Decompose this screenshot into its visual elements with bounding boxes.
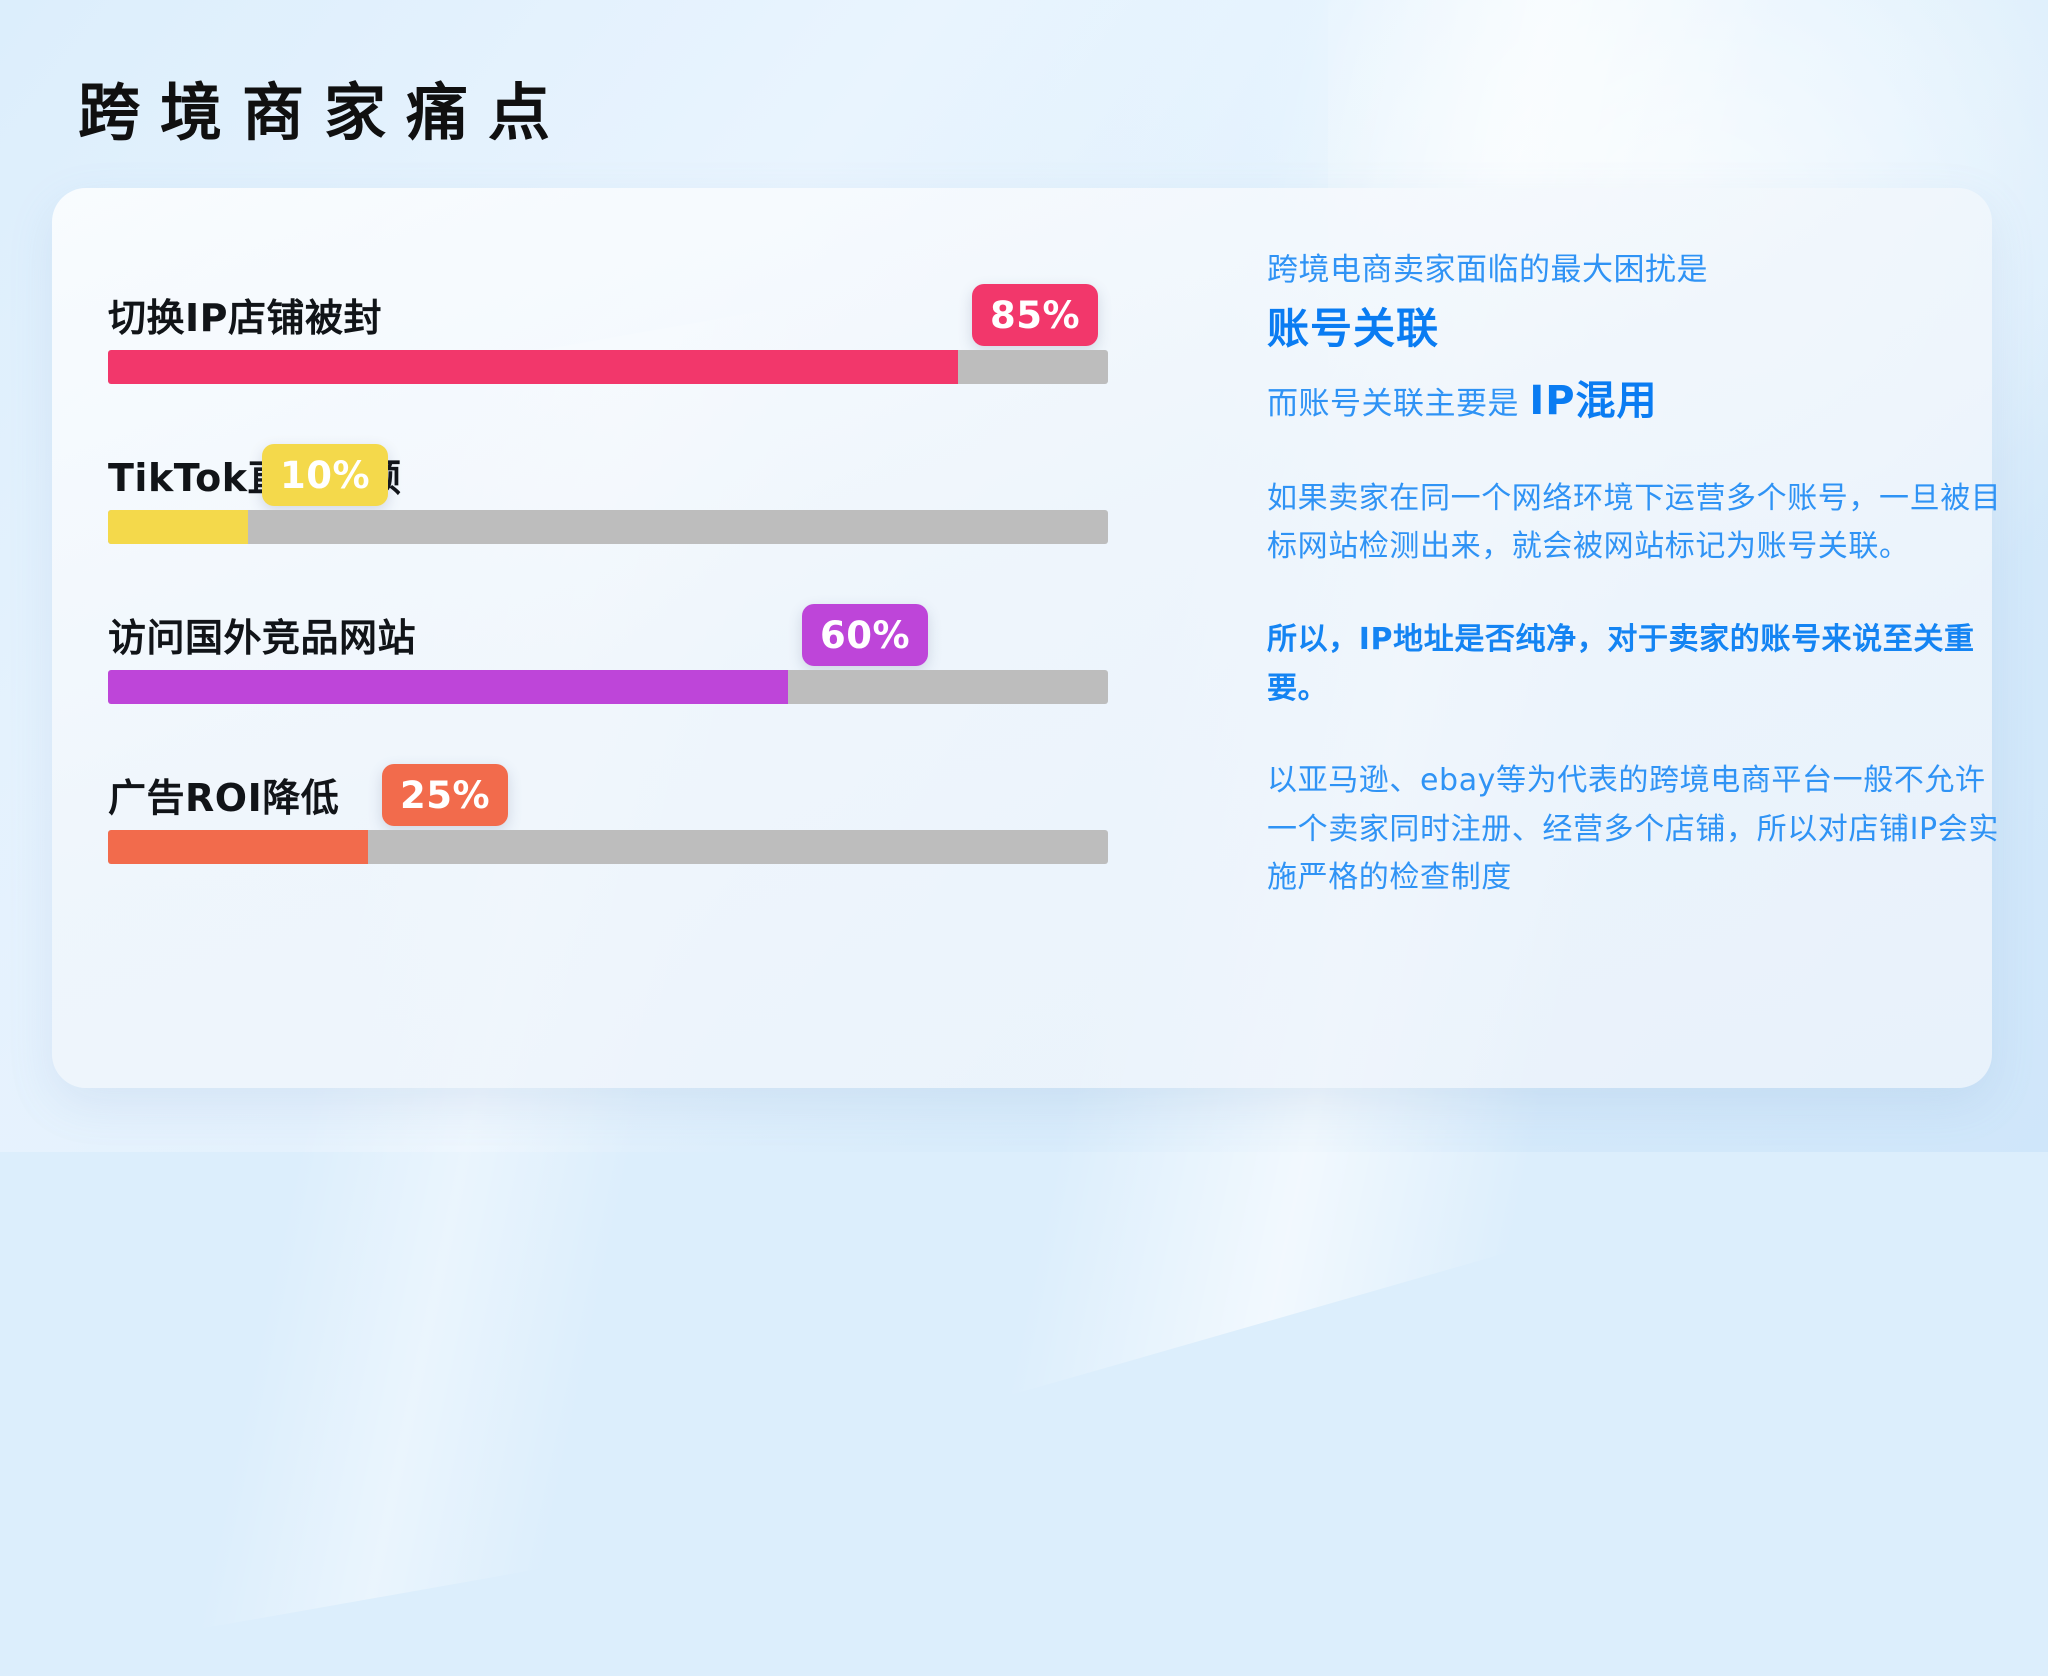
- page-title: 跨境商家痛点: [78, 62, 570, 152]
- bar-label: 广告ROI降低: [108, 767, 339, 822]
- bar-value-badge: 25%: [382, 764, 508, 826]
- bar-header: 访问国外竞品网站 60%: [108, 584, 1168, 670]
- bar-value-badge: 85%: [972, 284, 1098, 346]
- highlight-text: 账号关联: [1267, 299, 2007, 359]
- bar-group: 切换IP店铺被封 85%: [108, 264, 1168, 424]
- bar-track: [108, 350, 1108, 384]
- bar-fill: [108, 350, 958, 384]
- lead-text: 跨境电商卖家面临的最大困扰是: [1267, 248, 2007, 293]
- lead2-prefix: 而账号关联主要是: [1267, 386, 1529, 422]
- bar-track: [108, 670, 1108, 704]
- bar-fill: [108, 670, 788, 704]
- content-card: 切换IP店铺被封 85% TikTok直播卡顿 10% 访问国外竞品网站 60%: [52, 188, 1992, 1088]
- lead-text-secondary: 而账号关联主要是 IP混用: [1267, 371, 2007, 431]
- bar-value-badge: 60%: [802, 604, 928, 666]
- bar-fill: [108, 510, 248, 544]
- bar-group: TikTok直播卡顿 10%: [108, 424, 1168, 584]
- bar-track: [108, 830, 1108, 864]
- bar-group: 广告ROI降低 25%: [108, 744, 1168, 904]
- explanation-panel: 跨境电商卖家面临的最大困扰是 账号关联 而账号关联主要是 IP混用 如果卖家在同…: [1267, 248, 2007, 903]
- bar-header: 切换IP店铺被封 85%: [108, 264, 1168, 350]
- paragraph-three: 以亚马逊、ebay等为代表的跨境电商平台一般不允许一个卖家同时注册、经营多个店铺…: [1267, 757, 2007, 903]
- bar-label: 访问国外竞品网站: [108, 607, 416, 662]
- lead2-strong: IP混用: [1529, 378, 1657, 424]
- paragraph-one: 如果卖家在同一个网络环境下运营多个账号，一旦被目标网站检测出来，就会被网站标记为…: [1267, 475, 2007, 572]
- bar-header: TikTok直播卡顿 10%: [108, 424, 1168, 510]
- bar-group: 访问国外竞品网站 60%: [108, 584, 1168, 744]
- bar-track: [108, 510, 1108, 544]
- bar-label: 切换IP店铺被封: [108, 287, 382, 342]
- paragraph-two: 所以，IP地址是否纯净，对于卖家的账号来说至关重要。: [1267, 616, 2007, 713]
- pain-point-bar-chart: 切换IP店铺被封 85% TikTok直播卡顿 10% 访问国外竞品网站 60%: [108, 264, 1168, 904]
- bar-header: 广告ROI降低 25%: [108, 744, 1168, 830]
- bar-value-badge: 10%: [262, 444, 388, 506]
- bar-fill: [108, 830, 368, 864]
